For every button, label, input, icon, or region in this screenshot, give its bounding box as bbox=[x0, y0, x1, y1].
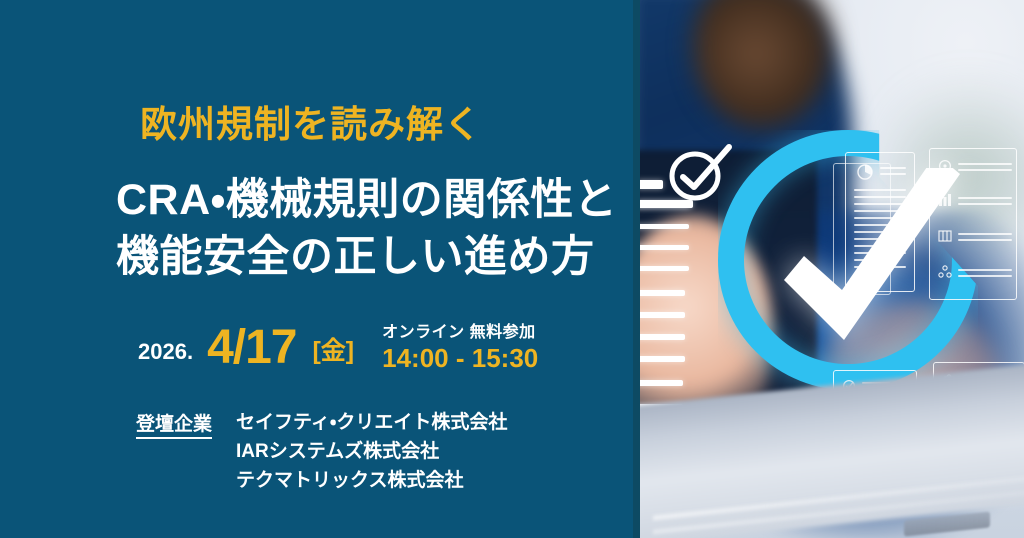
event-time-block: オンライン 無料参加 14:00 - 15:30 bbox=[382, 318, 538, 371]
network-icon bbox=[938, 265, 952, 279]
event-time: 14:00 - 15:30 bbox=[382, 345, 538, 371]
ui-bar bbox=[637, 180, 663, 189]
target-icon bbox=[938, 159, 952, 173]
headline-line-1: CRA・機械規則の関係性と bbox=[116, 176, 617, 224]
list-item: セイフティ・クリエイト株式会社 bbox=[236, 408, 507, 437]
hero-photo bbox=[633, 0, 1024, 538]
ui-bar bbox=[633, 224, 689, 229]
speakers-label: 登壇企業 bbox=[136, 409, 212, 439]
ui-bar bbox=[633, 312, 685, 318]
ui-bar bbox=[633, 334, 685, 340]
page-title: CRA・機械規則の関係性と 機能安全の正しい進め方 bbox=[116, 172, 617, 286]
headline-line-2: 機能安全の正しい進め方 bbox=[116, 229, 617, 286]
speakers-block: 登壇企業 セイフティ・クリエイト株式会社 IARシステムズ株式会社 テクマトリッ… bbox=[136, 408, 507, 495]
server-icon bbox=[938, 229, 952, 243]
text-panel: 欧州規制を読み解く CRA・機械規則の関係性と 機能安全の正しい進め方 2026… bbox=[0, 0, 633, 538]
list-item: テクマトリックス株式会社 bbox=[236, 466, 507, 495]
event-weekday: [金] bbox=[312, 331, 354, 371]
document-card-icon bbox=[929, 148, 1017, 300]
eyebrow-text: 欧州規制を読み解く bbox=[140, 94, 482, 148]
ui-bar bbox=[633, 380, 683, 386]
ui-bar bbox=[633, 290, 685, 296]
event-format-note: オンライン 無料参加 bbox=[382, 318, 535, 342]
ui-bar bbox=[633, 245, 689, 250]
event-day: 4/17 bbox=[207, 325, 296, 371]
speakers-list: セイフティ・クリエイト株式会社 IARシステムズ株式会社 テクマトリックス株式会… bbox=[236, 408, 507, 495]
list-item: IARシステムズ株式会社 bbox=[236, 437, 507, 466]
ui-bar bbox=[633, 266, 689, 271]
panel-edge-strip bbox=[633, 0, 640, 538]
webinar-banner: 欧州規制を読み解く CRA・機械規則の関係性と 機能安全の正しい進め方 2026… bbox=[0, 0, 1024, 538]
document-card-icon bbox=[845, 152, 915, 292]
ui-bar bbox=[633, 356, 685, 362]
pie-chart-icon bbox=[856, 163, 874, 181]
event-year: 2026. bbox=[138, 339, 193, 371]
bar-chart-icon bbox=[938, 193, 952, 207]
event-date-line: 2026. 4/17 [金] オンライン 無料参加 14:00 - 15:30 bbox=[138, 318, 538, 371]
